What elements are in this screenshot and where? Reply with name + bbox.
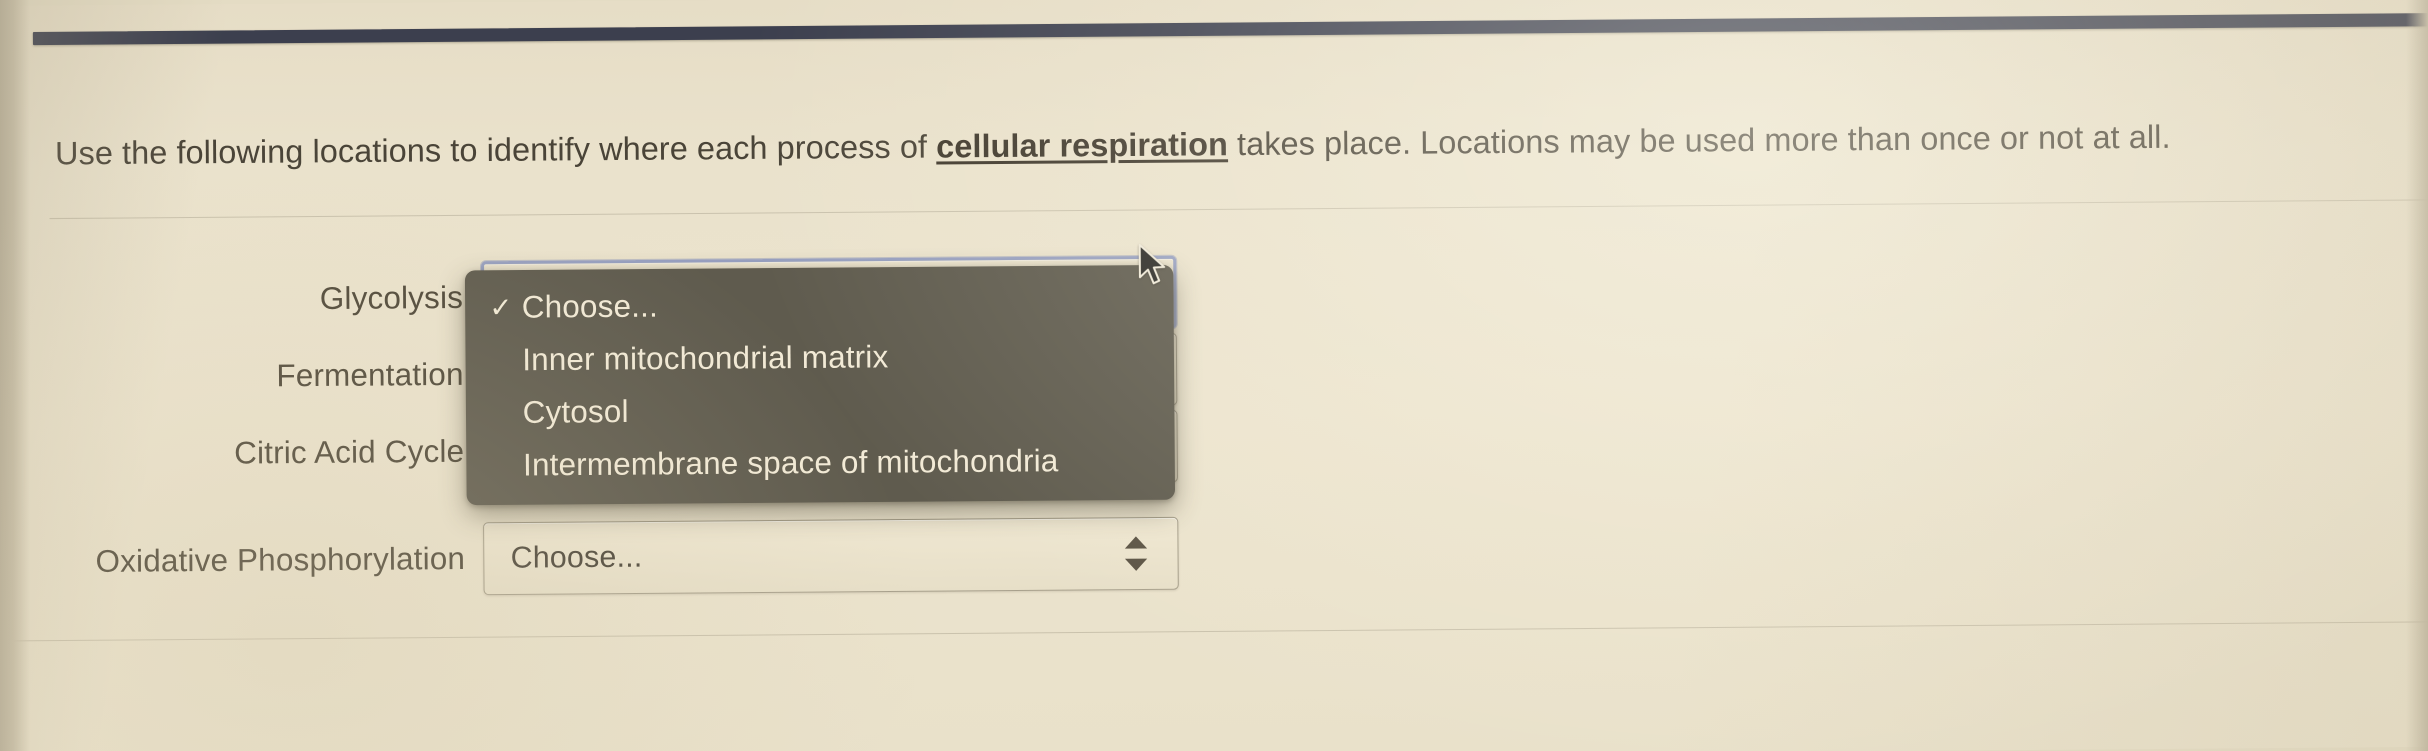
chevron-down-icon[interactable] xyxy=(1125,559,1147,571)
menu-item-label: Inner mitochondrial matrix xyxy=(522,339,888,378)
menu-item-label: Cytosol xyxy=(523,394,629,431)
screen-bezel-right xyxy=(2406,0,2428,751)
divider-bottom xyxy=(0,621,2428,641)
mouse-pointer-icon xyxy=(1138,244,1169,289)
chevron-up-icon[interactable] xyxy=(1125,536,1147,548)
menu-item-intermembrane-space-of-mitochondria[interactable]: ✓ Intermembrane space of mitochondria xyxy=(466,434,1175,492)
header-rule xyxy=(33,13,2428,45)
quiz-page: Use the following locations to identify … xyxy=(0,0,2428,751)
prompt-emphasis: cellular respiration xyxy=(936,126,1228,165)
select-oxidative-phosphorylation[interactable]: Choose... xyxy=(483,517,1179,595)
check-icon-placeholder: ✓ xyxy=(490,399,523,427)
match-row-oxidative-phosphorylation: Oxidative Phosphorylation Choose... xyxy=(0,515,1179,601)
divider-top xyxy=(50,199,2428,219)
menu-item-inner-mitochondrial-matrix[interactable]: ✓ Inner mitochondrial matrix xyxy=(465,329,1174,387)
menu-item-choose[interactable]: ✓ Choose... xyxy=(465,276,1174,334)
prompt-text-after: takes place. Locations may be used more … xyxy=(1228,118,2171,162)
prompt-text-before: Use the following locations to identify … xyxy=(55,128,936,171)
question-prompt: Use the following locations to identify … xyxy=(55,115,2383,174)
label-column: Oxidative Phosphorylation xyxy=(0,541,483,581)
check-icon-placeholder: ✓ xyxy=(490,346,523,374)
check-icon-placeholder: ✓ xyxy=(491,452,524,480)
label-column: Citric Acid Cycle xyxy=(0,433,483,473)
dropdown-menu[interactable]: ✓ Choose... ✓ Inner mitochondrial matrix… xyxy=(465,265,1175,505)
select-stepper-oxidative-phosphorylation[interactable] xyxy=(1125,536,1148,571)
row-label-glycolysis: Glycolysis xyxy=(320,279,482,317)
screen-photo: Use the following locations to identify … xyxy=(0,0,2428,751)
menu-item-label: Intermembrane space of mitochondria xyxy=(523,443,1059,484)
label-column: Fermentation xyxy=(0,356,482,396)
row-label-citric-acid-cycle: Citric Acid Cycle xyxy=(234,433,483,471)
screen-bezel-left xyxy=(0,0,30,751)
row-label-oxidative-phosphorylation: Oxidative Phosphorylation xyxy=(95,541,483,580)
row-label-fermentation: Fermentation xyxy=(276,356,482,394)
select-value-oxidative-phosphorylation: Choose... xyxy=(484,540,642,576)
check-icon: ✓ xyxy=(489,294,522,322)
menu-item-cytosol[interactable]: ✓ Cytosol xyxy=(466,381,1175,439)
menu-item-label: Choose... xyxy=(522,288,658,325)
label-column: Glycolysis xyxy=(0,279,481,319)
